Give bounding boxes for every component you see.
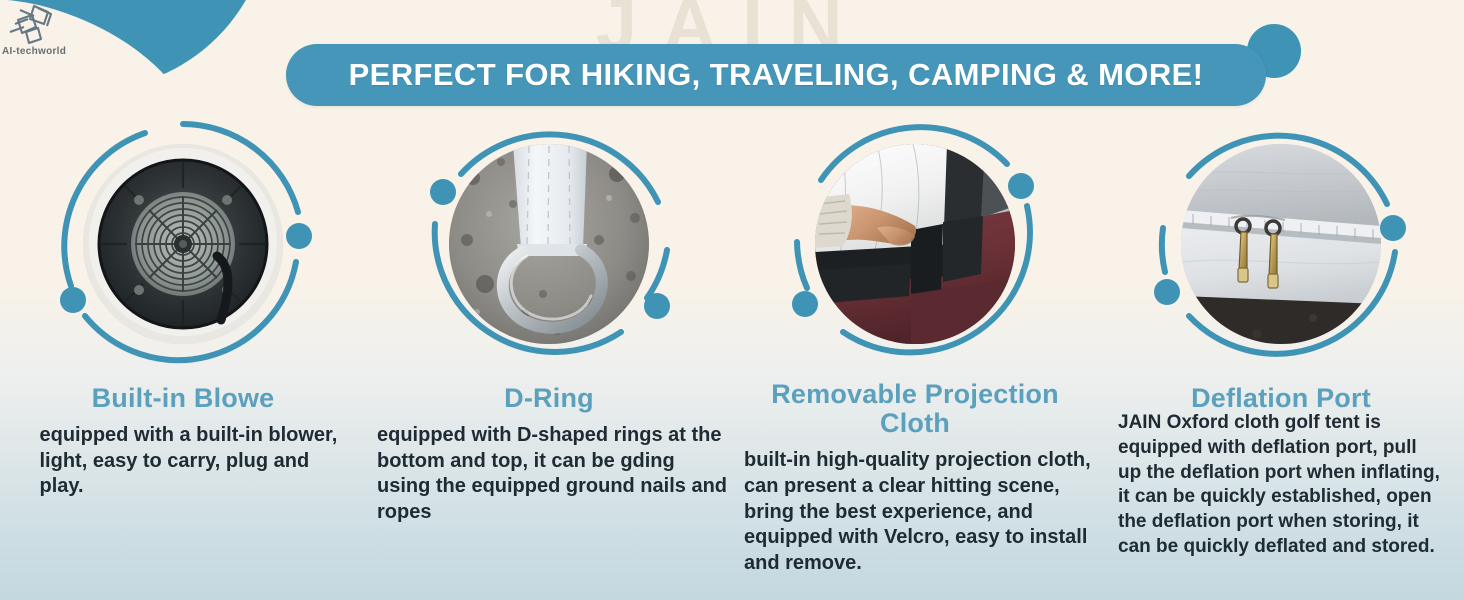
feature-title-deflation-port: Deflation Port bbox=[1131, 384, 1431, 413]
feature-column-deflation-port: Deflation Port JAIN Oxford cloth golf te… bbox=[1098, 108, 1464, 600]
ai-techworld-logo-icon bbox=[4, 2, 60, 50]
feature-columns: Built-in Blowe equipped with a built-in … bbox=[0, 108, 1464, 600]
feature-media-deflation-port bbox=[1147, 110, 1415, 378]
deflation-port-zipper-photo bbox=[1181, 144, 1381, 344]
feature-media-projection-cloth bbox=[781, 110, 1049, 378]
ring-dot-icon bbox=[1154, 279, 1180, 305]
ring-dot-icon bbox=[430, 179, 456, 205]
feature-body-deflation-port: JAIN Oxford cloth golf tent is equipped … bbox=[1118, 411, 1444, 559]
feature-body-built-in-blower: equipped with a built-in blower, light, … bbox=[40, 423, 345, 500]
d-ring-strap-photo bbox=[449, 144, 649, 344]
feature-column-built-in-blower: Built-in Blowe equipped with a built-in … bbox=[0, 108, 366, 600]
projection-cloth-velcro-photo bbox=[815, 144, 1015, 344]
feature-media-d-ring bbox=[415, 110, 683, 378]
feature-title-d-ring: D-Ring bbox=[399, 384, 699, 413]
ring-dot-icon bbox=[60, 287, 86, 313]
feature-title-built-in-blower: Built-in Blowe bbox=[33, 384, 333, 413]
product-feature-infographic: JAIN AI-techworld PERFECT FOR HIKING, TR… bbox=[0, 0, 1464, 600]
ring-dot-icon bbox=[644, 293, 670, 319]
feature-title-projection-cloth: Removable Projection Cloth bbox=[765, 380, 1065, 438]
feature-column-d-ring: D-Ring equipped with D-shaped rings at t… bbox=[366, 108, 732, 600]
brand-watermark-label: AI-techworld bbox=[2, 46, 66, 57]
ring-dot-icon bbox=[1008, 173, 1034, 199]
feature-column-projection-cloth: Removable Projection Cloth built-in high… bbox=[732, 108, 1098, 600]
header-banner: PERFECT FOR HIKING, TRAVELING, CAMPING &… bbox=[286, 44, 1266, 106]
ring-dot-icon bbox=[792, 291, 818, 317]
blower-fan-photo bbox=[83, 144, 283, 344]
header-banner-text: PERFECT FOR HIKING, TRAVELING, CAMPING &… bbox=[349, 57, 1204, 93]
feature-media-built-in-blower bbox=[49, 110, 317, 378]
feature-body-d-ring: equipped with D-shaped rings at the bott… bbox=[377, 423, 729, 525]
feature-body-projection-cloth: built-in high-quality projection cloth, … bbox=[744, 448, 1092, 576]
ring-dot-icon bbox=[286, 223, 312, 249]
ring-dot-icon bbox=[1380, 215, 1406, 241]
